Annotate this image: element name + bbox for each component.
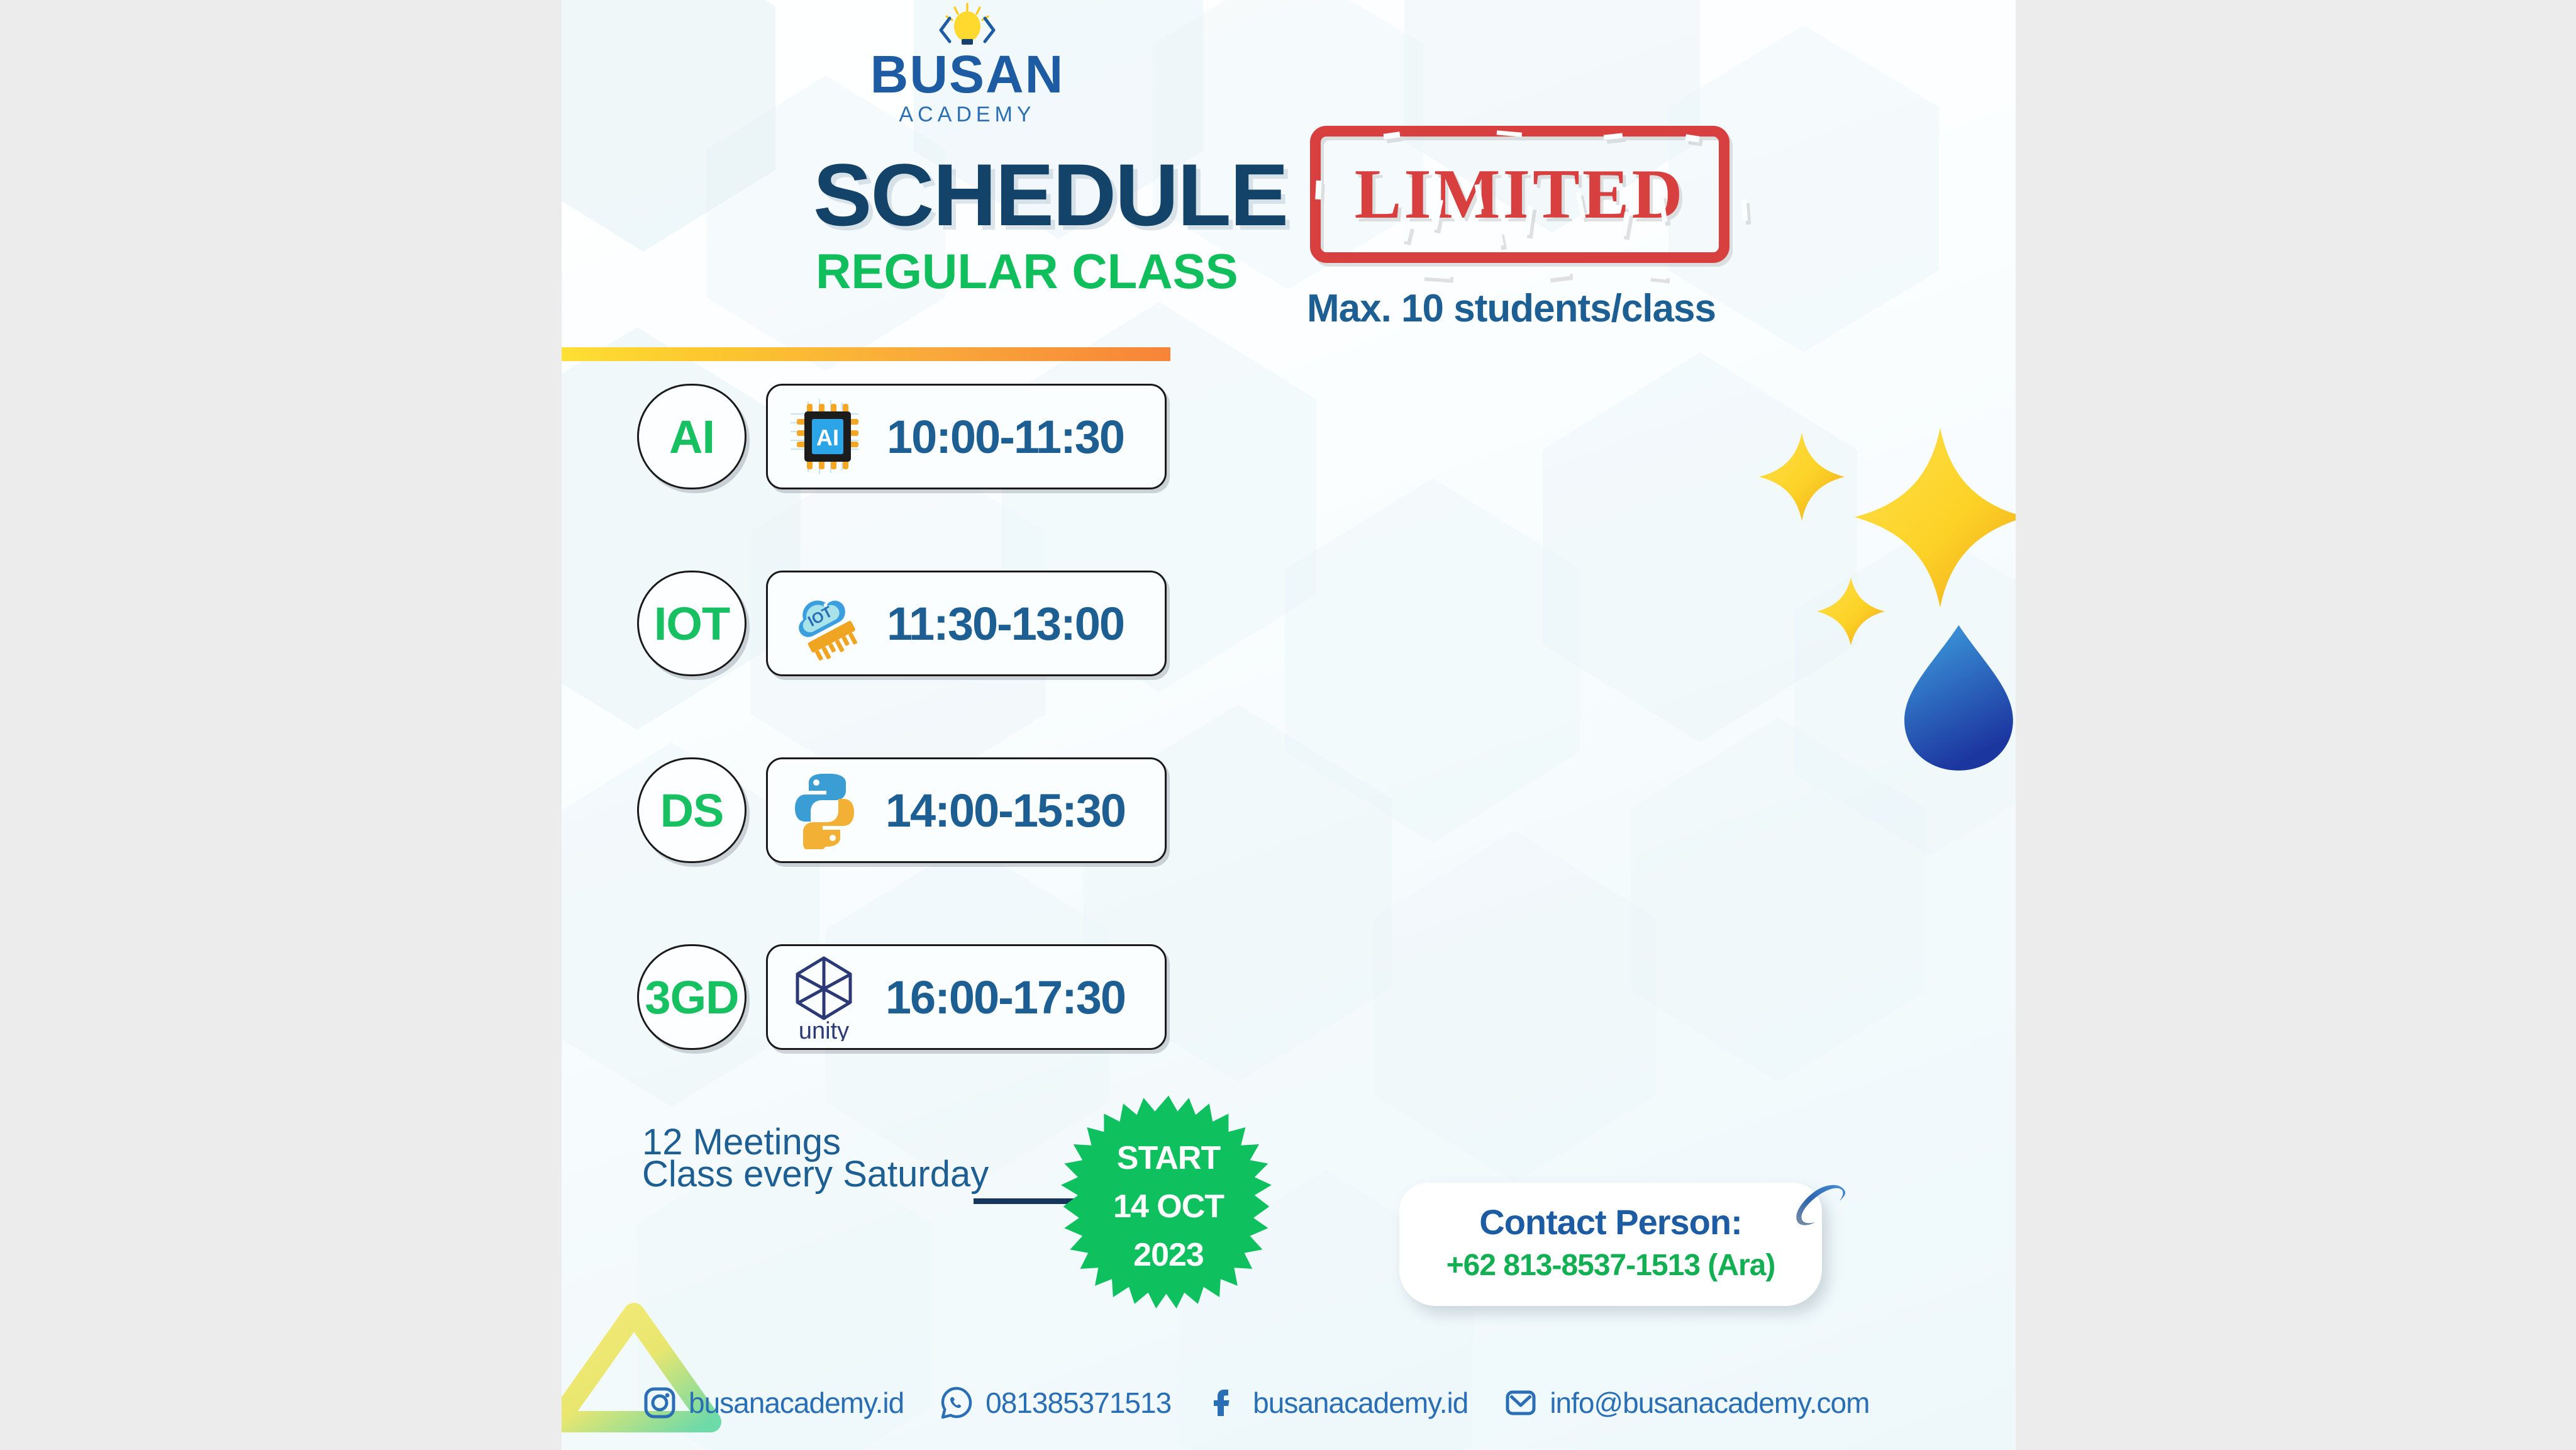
footer-social-bar: busanacademy.id 081385371513 busanacadem…: [562, 1356, 2016, 1450]
course-code-pill[interactable]: DS: [637, 757, 747, 863]
email-icon: [1504, 1386, 1537, 1419]
blue-swoosh-icon: [1783, 1174, 1858, 1249]
whatsapp-icon: [940, 1386, 973, 1419]
decor-sparkles-droplet: [1752, 403, 2016, 805]
limited-stamp-label: LIMITED: [1321, 137, 1719, 252]
sparkles-icon: [1855, 428, 2016, 608]
course-time-label: 11:30-13:00: [875, 597, 1165, 650]
course-code-label: IOT: [654, 597, 730, 650]
course-code-label: 3GD: [645, 971, 738, 1024]
schedule-row[interactable]: 3GD unity 16:00-17:30: [562, 944, 2016, 1050]
footer-label: info@busanacademy.com: [1550, 1386, 1869, 1420]
footer-item-facebook[interactable]: busanacademy.id: [1207, 1386, 1468, 1420]
contact-phone: +62 813-8537-1513 (Ara): [1399, 1248, 1822, 1283]
footer-label: 081385371513: [985, 1386, 1171, 1420]
brand-name: BUSAN: [854, 50, 1080, 99]
brand-subname: ACADEMY: [854, 103, 1080, 127]
course-time-label: 14:00-15:30: [875, 784, 1165, 837]
iot-cloud-icon: IOT: [774, 576, 875, 671]
instagram-icon: [643, 1386, 676, 1419]
svg-text:AI: AI: [816, 425, 839, 450]
footer-item-whatsapp[interactable]: 081385371513: [940, 1386, 1171, 1420]
course-code-label: DS: [660, 784, 724, 837]
start-year: 2023: [1133, 1236, 1204, 1274]
footer-item-instagram[interactable]: busanacademy.id: [643, 1386, 904, 1420]
course-code-label: AI: [669, 410, 714, 464]
start-date: 14 OCT: [1113, 1188, 1224, 1225]
course-time-label: 16:00-17:30: [875, 971, 1165, 1024]
course-code-pill[interactable]: 3GD: [637, 944, 747, 1050]
course-code-pill[interactable]: IOT: [637, 571, 747, 676]
footer-label: busanacademy.id: [1253, 1386, 1468, 1420]
footer-item-email[interactable]: info@busanacademy.com: [1504, 1386, 1869, 1420]
capacity-note: Max. 10 students/class: [1307, 286, 1873, 331]
start-date-badge: START 14 OCT 2023: [1055, 1093, 1282, 1320]
droplet-icon: [1904, 625, 2013, 771]
facebook-icon: [1207, 1386, 1240, 1419]
course-code-pill[interactable]: AI: [637, 384, 747, 489]
svg-text:unity: unity: [799, 1018, 849, 1041]
course-time-pill[interactable]: 14:00-15:30: [766, 757, 1167, 863]
brand-logo: BUSAN ACADEMY: [854, 3, 1080, 127]
poster-canvas: BUSAN ACADEMY SCHEDULE REGULAR CLASS LIM…: [562, 0, 2016, 1450]
title-underline-gradient: [562, 347, 1170, 361]
course-time-pill[interactable]: AI 10:00-11:30: [766, 384, 1167, 489]
lightbulb-code-icon: [854, 3, 1080, 49]
start-label: START: [1117, 1139, 1220, 1177]
course-time-pill[interactable]: unity 16:00-17:30: [766, 944, 1167, 1050]
footer-label: busanacademy.id: [689, 1386, 904, 1420]
course-time-pill[interactable]: IOT 11:30-13:00: [766, 571, 1167, 676]
limited-stamp: LIMITED: [1310, 126, 1729, 263]
class-frequency: Class every Saturday: [642, 1153, 989, 1195]
unity-icon: unity: [774, 950, 875, 1044]
ai-chip-icon: AI: [774, 389, 875, 484]
contact-card[interactable]: Contact Person: +62 813-8537-1513 (Ara): [1399, 1183, 1822, 1306]
course-time-label: 10:00-11:30: [875, 410, 1165, 464]
contact-heading: Contact Person:: [1399, 1202, 1822, 1242]
python-icon: [774, 763, 875, 857]
